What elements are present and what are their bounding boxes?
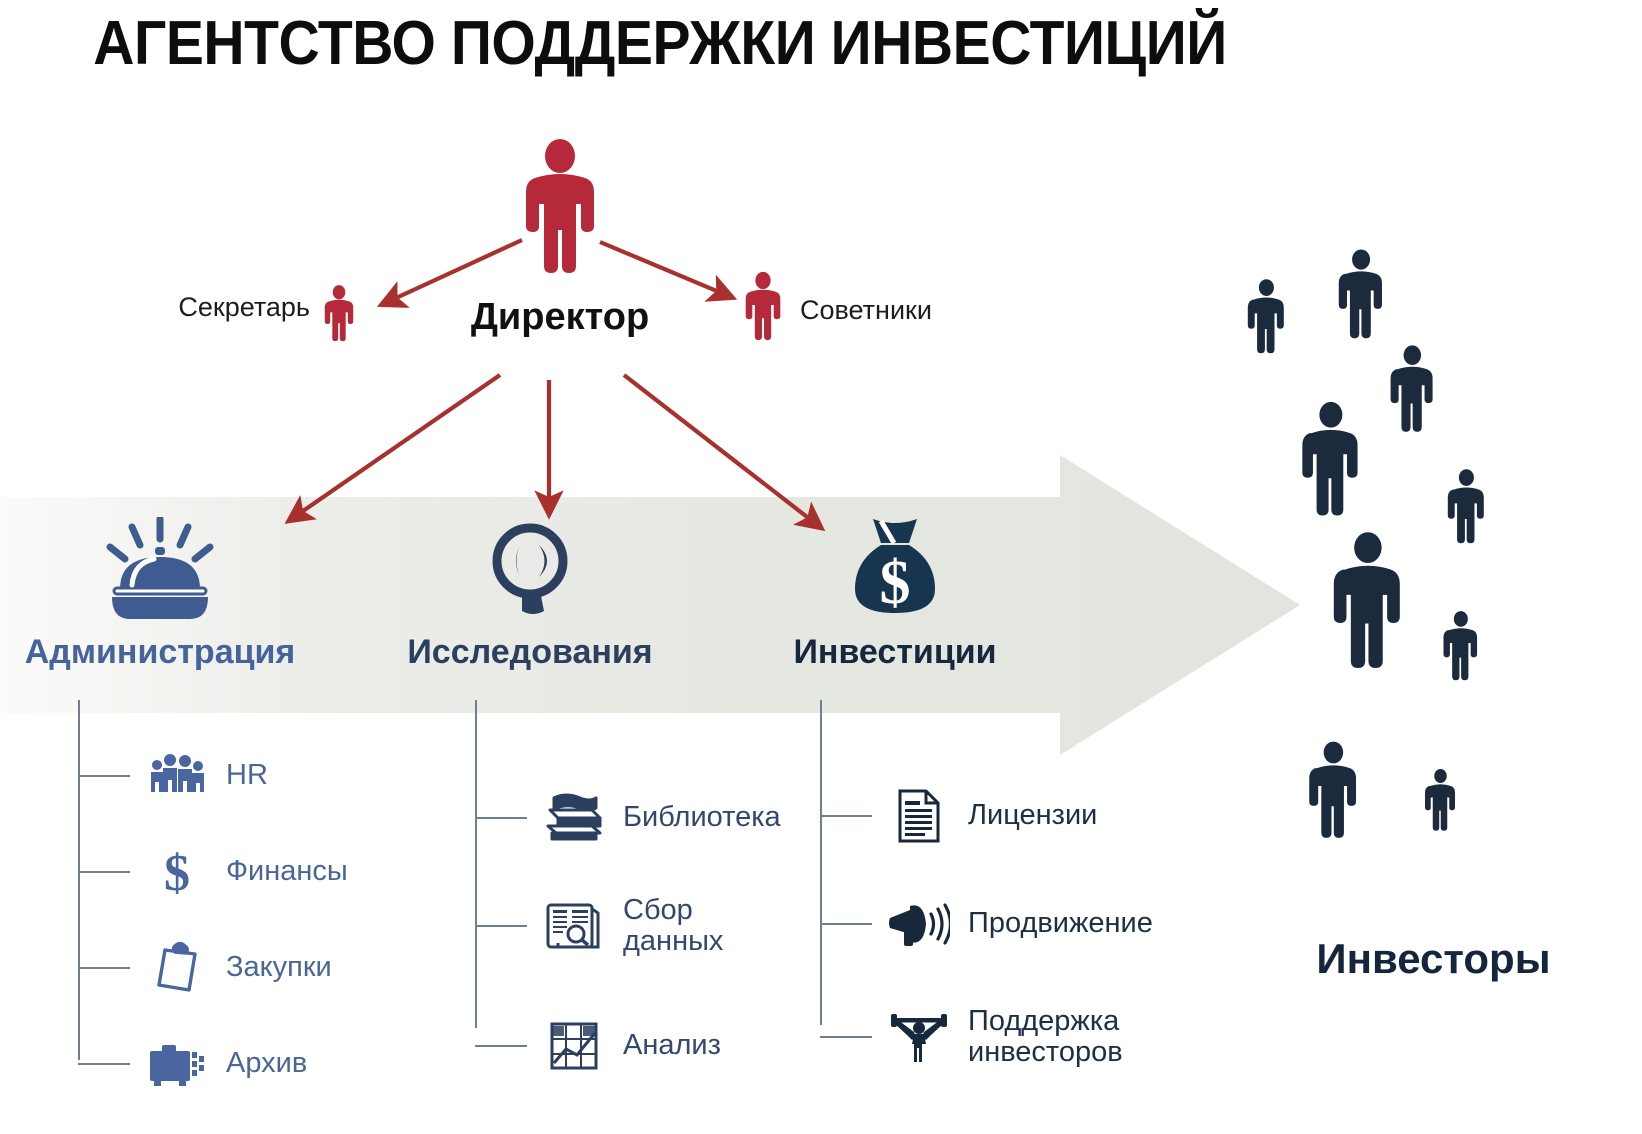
document-lines-icon	[888, 788, 950, 844]
svg-text:$: $	[164, 845, 190, 900]
connector-tick	[475, 1045, 527, 1047]
secretary-label: Секретарь	[120, 292, 310, 323]
list-item-label: Финансы	[226, 856, 348, 887]
list-item-label: Анализ	[623, 1030, 721, 1061]
column-title-administration: Администрация	[0, 633, 325, 672]
investor-figure	[1443, 468, 1490, 558]
list-item[interactable]: Лицензии	[820, 788, 1097, 844]
chart-grid-icon	[543, 1018, 605, 1074]
column-research: Исследования	[365, 515, 695, 672]
connector-tick	[820, 1036, 872, 1038]
list-item[interactable]: Поддержка инвесторов	[820, 1006, 1123, 1069]
magnifying-glass-icon	[365, 515, 695, 625]
list-item[interactable]: $ Финансы	[78, 844, 348, 900]
column-title-investments: Инвестиции	[730, 633, 1060, 672]
column-title-research: Исследования	[365, 633, 695, 672]
advisors-label: Советники	[800, 295, 1020, 326]
page-title: АГЕНТСТВО ПОДДЕРЖКИ ИНВЕСТИЦИЙ	[53, 8, 1267, 79]
column-administration: Администрация	[0, 515, 325, 672]
connector-tick	[820, 923, 872, 925]
list-item[interactable]: Сбор данных	[475, 895, 723, 958]
branch-spine	[820, 700, 822, 1025]
investor-figure	[1439, 610, 1483, 694]
connector-tick	[78, 871, 130, 873]
clipboard-icon	[146, 940, 208, 996]
infographic-canvas: АГЕНТСТВО ПОДДЕРЖКИ ИНВЕСТИЦИЙ	[0, 0, 1642, 1134]
list-item[interactable]: HR	[78, 748, 268, 804]
books-stack-icon	[543, 790, 605, 846]
connector-tick	[820, 815, 872, 817]
connector-tick	[78, 775, 130, 777]
connector-tick	[475, 925, 527, 927]
service-bell-icon	[0, 515, 325, 625]
list-item-label: Сбор данных	[623, 895, 723, 958]
investor-figure	[1333, 248, 1389, 356]
list-item[interactable]: Библиотека	[475, 790, 781, 846]
weightlifter-icon	[888, 1009, 950, 1065]
connector-tick	[475, 817, 527, 819]
connector-tick	[78, 1063, 130, 1065]
investor-figure	[1243, 278, 1290, 368]
megaphone-icon	[888, 896, 950, 952]
list-item[interactable]: Архив	[78, 1036, 307, 1092]
list-item-label: Архив	[226, 1048, 307, 1079]
investors-label: Инвесторы	[1225, 935, 1642, 983]
secretary-figure	[316, 272, 362, 356]
svg-text:$: $	[880, 549, 911, 617]
investor-figure	[1295, 400, 1367, 538]
investor-figure	[1325, 530, 1411, 695]
investors-group	[1225, 240, 1642, 900]
list-item-label: Лицензии	[968, 800, 1097, 831]
column-investments: $ Инвестиции	[730, 515, 1060, 672]
connector-tick	[78, 967, 130, 969]
branch-spine	[475, 700, 477, 1028]
archive-box-icon	[146, 1036, 208, 1092]
money-bag-icon: $	[730, 515, 1060, 625]
data-document-icon	[543, 898, 605, 954]
director-label: Директор	[430, 296, 690, 339]
director-figure	[505, 138, 615, 278]
arrow-icon	[383, 240, 522, 304]
list-item-label: Закупки	[226, 952, 332, 983]
list-item-label: Поддержка инвесторов	[968, 1006, 1123, 1069]
list-item-label: HR	[226, 760, 268, 791]
investor-figure	[1421, 768, 1460, 843]
list-item-label: Продвижение	[968, 908, 1153, 939]
people-group-icon	[146, 748, 208, 804]
investor-figure	[1303, 740, 1364, 857]
list-item[interactable]: Закупки	[78, 940, 332, 996]
advisors-figure	[735, 255, 791, 359]
list-item[interactable]: Анализ	[475, 1018, 721, 1074]
arrow-icon	[600, 242, 731, 297]
dollar-sign-icon: $	[146, 844, 208, 900]
list-item[interactable]: Продвижение	[820, 896, 1153, 952]
list-item-label: Библиотека	[623, 802, 781, 833]
investor-figure	[1385, 344, 1440, 449]
